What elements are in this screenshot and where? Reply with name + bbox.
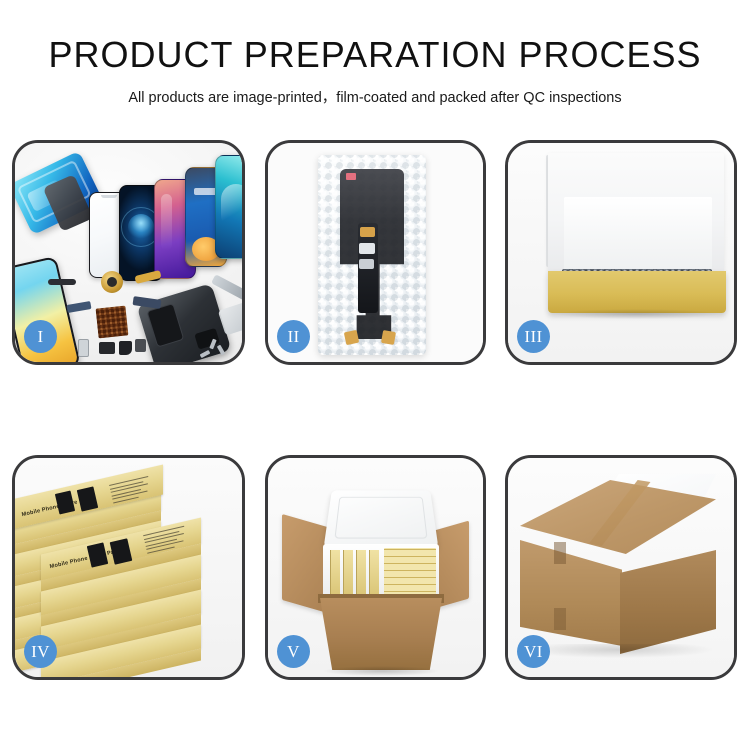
steps-grid: I II: [0, 0, 750, 750]
yellow-box-upright: [369, 550, 379, 598]
step-panel-2: II: [265, 140, 486, 365]
step-badge-6: VI: [517, 635, 550, 668]
yellow-box-upright: [343, 550, 353, 598]
side-button-part: [78, 339, 89, 357]
step-panel-1: I: [12, 140, 245, 365]
vibration-motor-part: [101, 271, 123, 293]
step-panel-4: Mobile Phone Spare Parts Mobile Phone Sp…: [12, 455, 245, 680]
foam-box-lid: [324, 490, 439, 548]
connector-grid-part: [96, 306, 129, 339]
buzzer-part: [119, 341, 132, 355]
yellow-box-upright: [356, 550, 366, 598]
yellow-box-stack-flat: [384, 548, 436, 598]
step-panel-6: VI: [505, 455, 737, 680]
connector-grey: [359, 259, 374, 269]
carton-seam: [554, 608, 566, 630]
step-badge-3: III: [517, 320, 550, 353]
kraft-box-tray: [548, 271, 726, 313]
connector-gold: [360, 227, 375, 237]
foam-liner: [564, 197, 712, 273]
product-preparation-infographic: PRODUCT PREPARATION PROCESS All products…: [0, 0, 750, 750]
outer-carton-body: [320, 598, 442, 670]
step-badge-4: IV: [24, 635, 57, 668]
bubble-wrap-bag: [318, 155, 426, 355]
gold-tab-left: [344, 330, 359, 345]
camera-module-part: [135, 339, 146, 352]
step-badge-5: V: [277, 635, 310, 668]
step-panel-3: III: [505, 140, 737, 365]
gold-tab-right: [381, 330, 396, 345]
carton-seam: [554, 542, 566, 564]
speaker-part: [99, 342, 115, 354]
step-badge-2: II: [277, 320, 310, 353]
step-badge-1: I: [24, 320, 57, 353]
phone-teal-curved: [215, 155, 242, 259]
connector-white: [359, 243, 375, 254]
earpiece-mesh-part: [48, 279, 76, 285]
step-panel-5: V: [265, 455, 486, 680]
yellow-box-upright: [330, 550, 340, 598]
pink-sticker: [346, 173, 356, 180]
